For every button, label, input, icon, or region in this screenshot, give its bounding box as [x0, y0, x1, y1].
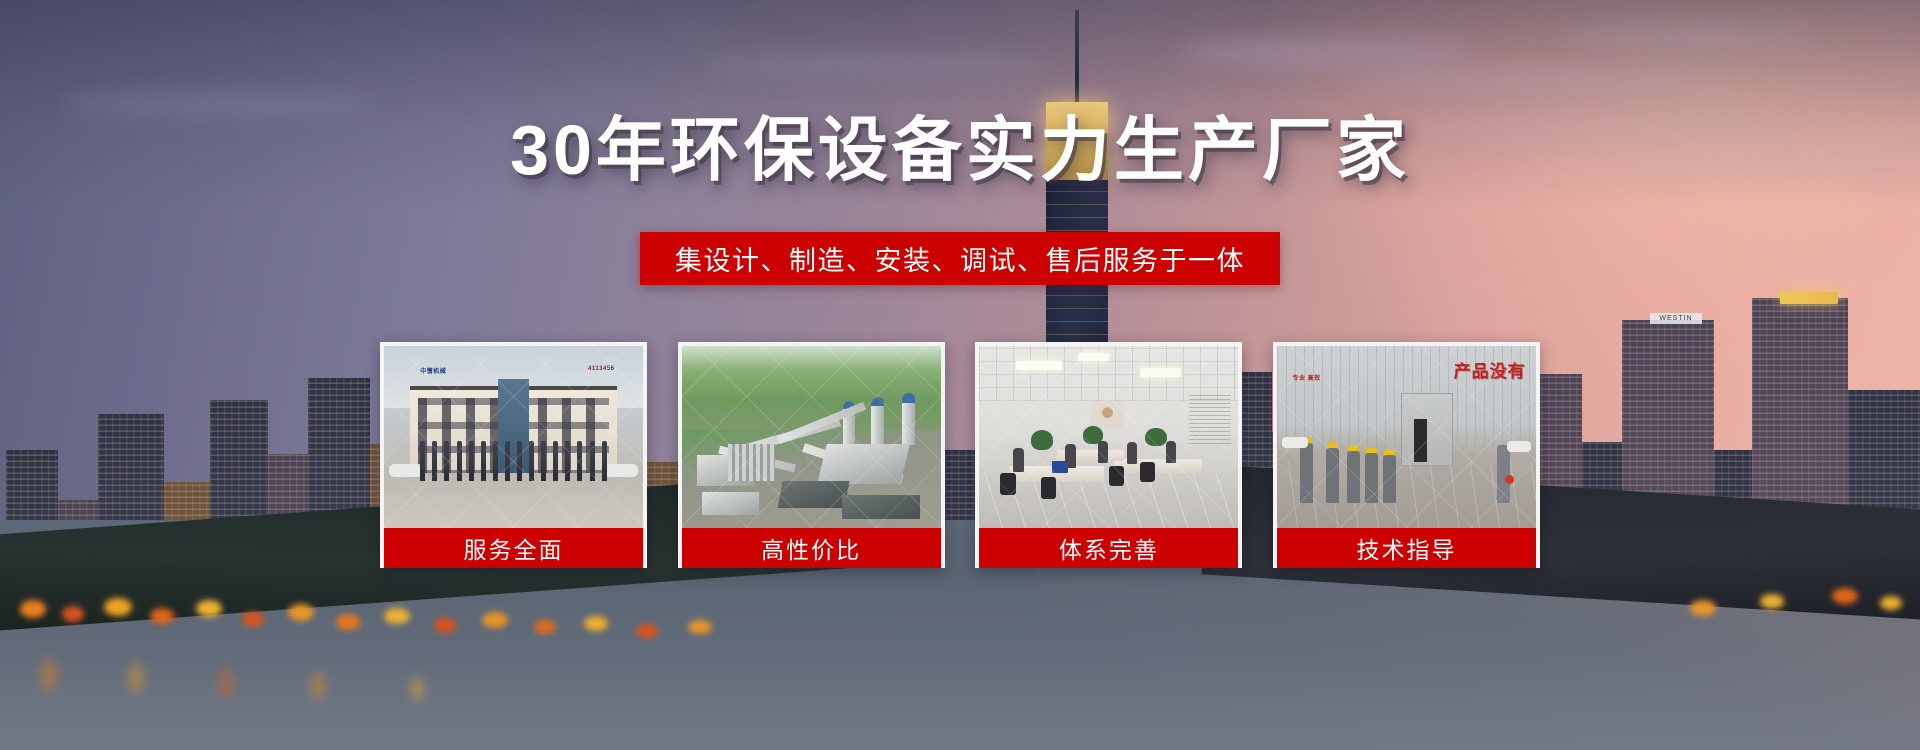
feature-cards: 中蓍机械 4113456 服务全面	[380, 342, 1540, 568]
banner-subtitle-bar: 集设计、制造、安装、调试、售后服务于一体	[640, 232, 1280, 285]
card-caption-system: 体系完善	[979, 528, 1238, 568]
card-caption-service: 服务全面	[384, 528, 643, 568]
tower-spire	[1075, 10, 1079, 102]
feature-card-guidance[interactable]: 产品没有 专业 高效 技术指导	[1273, 342, 1540, 568]
plaza-rooftop-sign	[1780, 292, 1838, 304]
feature-card-value[interactable]: 高性价比	[678, 342, 945, 568]
card-photo-industrial-plant	[682, 346, 941, 528]
factory-wall-slogan: 产品没有	[1454, 357, 1526, 382]
hero-banner: WESTIN 30年环保设备实力生产厂家 集设计、制造、安装、	[0, 0, 1920, 750]
banner-subtitle-text: 集设计、制造、安装、调试、售后服务于一体	[675, 239, 1245, 278]
card-photo-office-building: 中蓍机械 4113456	[384, 346, 643, 528]
building-company-sign: 中蓍机械	[420, 366, 446, 375]
banner-headline: 30年环保设备实力生产厂家	[0, 112, 1920, 189]
factory-wall-slogan-small: 专业 高效	[1293, 373, 1321, 382]
card-photo-workers-factory: 产品没有 专业 高效	[1277, 346, 1536, 528]
westin-rooftop-sign: WESTIN	[1650, 313, 1702, 324]
feature-card-service[interactable]: 中蓍机械 4113456 服务全面	[380, 342, 647, 568]
card-photo-office-interior	[979, 346, 1238, 528]
card-caption-value: 高性价比	[682, 528, 941, 568]
card-caption-guidance: 技术指导	[1277, 528, 1536, 568]
feature-card-system[interactable]: 体系完善	[975, 342, 1242, 568]
building-phone-number: 4113456	[588, 366, 615, 372]
